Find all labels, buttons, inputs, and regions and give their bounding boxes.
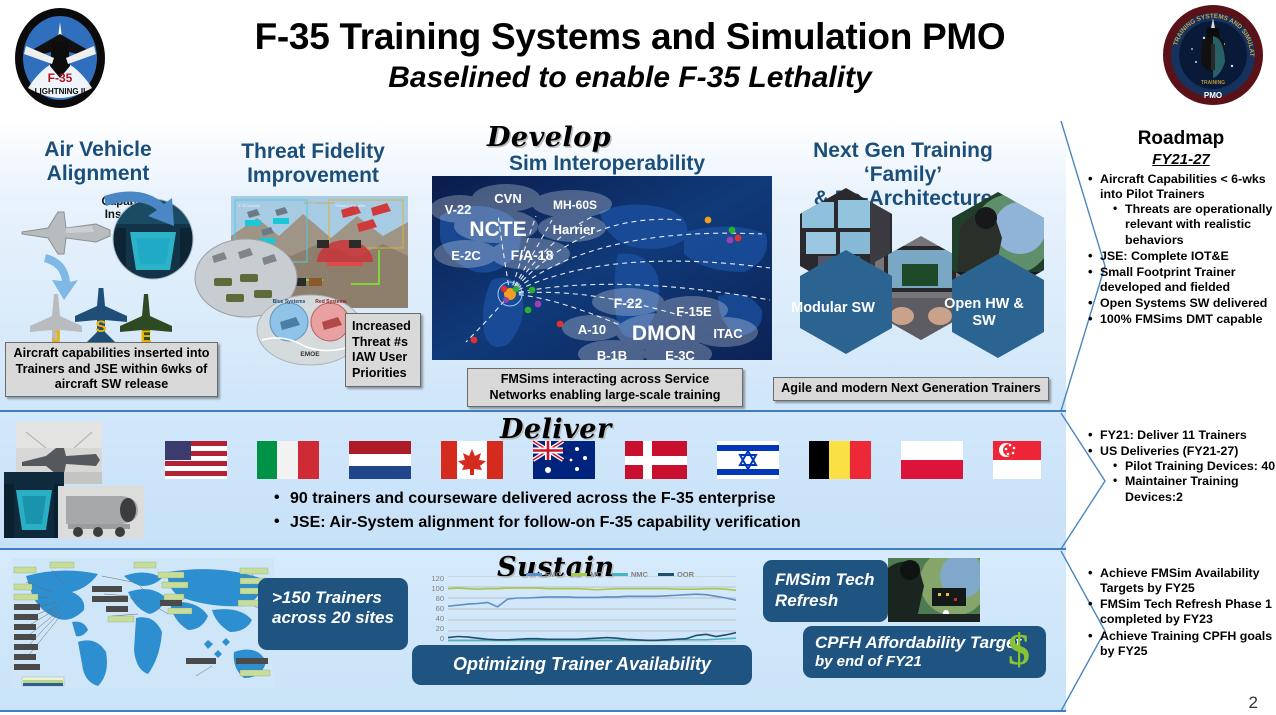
svg-text:LIGHTNING II: LIGHTNING II — [35, 87, 86, 96]
svg-text:E-2C: E-2C — [451, 248, 481, 263]
ytick: 0 — [420, 634, 444, 643]
sim-interoperability-network-map: V-22 CVN MH-60S NCTE Harrier E-2C F/A-18… — [432, 176, 772, 360]
flag-united-states — [165, 441, 227, 479]
svg-text:F-35 Ownship: F-35 Ownship — [239, 204, 260, 208]
col-title-sim-interoperability: Sim Interoperability — [492, 152, 722, 176]
availability-line-chart: FMC MC NMC OOR 120 100 80 60 40 20 0 — [420, 570, 738, 642]
bullet-text: 90 trainers and courseware delivered acr… — [290, 490, 776, 507]
col-title-line2: Alignment — [8, 162, 188, 186]
chart-y-axis: 120 100 80 60 40 20 0 — [420, 578, 444, 638]
list-item-text: FMSim Tech Refresh Phase 1 completed by … — [1100, 597, 1272, 626]
chart-series-mc — [448, 588, 736, 590]
callout-150-trainers: >150 Trainers across 20 sites — [258, 578, 408, 650]
roadmap-sublist: Threats are operationally relevant with … — [1112, 202, 1276, 247]
svg-text:V-22: V-22 — [445, 202, 472, 217]
svg-text:E-3C: E-3C — [665, 348, 695, 360]
list-item-text: JSE: Complete IOT&E — [1100, 249, 1229, 263]
roadmap-list-develop: Aircraft Capabilities < 6-wks into Pilot… — [1086, 172, 1276, 327]
roadmap-rail-deliver: FY21: Deliver 11 Trainers US Deliveries … — [1086, 424, 1276, 506]
svg-text:F-15E: F-15E — [676, 304, 712, 319]
col-title-line1: Air Vehicle — [8, 138, 188, 162]
col-title-line2: Improvement — [218, 164, 408, 188]
roadmap-heading: Roadmap — [1086, 128, 1276, 150]
next-gen-hexagon-cluster — [784, 188, 1062, 363]
slide-root: F-35 LIGHTNING II F-35 Training Systems … — [0, 0, 1276, 715]
page-number: 2 — [1249, 693, 1258, 713]
flag-netherlands — [349, 441, 411, 479]
svg-text:A-10: A-10 — [578, 322, 606, 337]
list-item: FMSim Tech Refresh Phase 1 completed by … — [1086, 597, 1276, 627]
page-subtitle: Baselined to enable F-35 Lethality — [160, 61, 1100, 96]
flag-israel — [717, 441, 779, 479]
svg-text:ITAC: ITAC — [713, 326, 743, 341]
list-item: US Deliveries (FY21-27) Pilot Training D… — [1086, 444, 1276, 505]
list-item: Small Footprint Trainer developed and fi… — [1086, 265, 1276, 295]
col-title-line1: Threat Fidelity — [218, 140, 408, 164]
svg-text:Red Systems: Red Systems — [315, 299, 347, 305]
svg-text:NCTE Constructive: NCTE Constructive — [304, 201, 335, 205]
list-item-text: Achieve FMSim Availability Targets by FY… — [1100, 566, 1260, 595]
f35-fuselage-trainer-photo — [58, 486, 144, 538]
chart-plot-area — [448, 576, 736, 642]
col-threat-fidelity: Threat Fidelity Improvement — [218, 140, 408, 188]
svg-text:B-1B: B-1B — [597, 348, 627, 360]
list-item-text: Aircraft Capabilities < 6-wks into Pilot… — [1100, 172, 1266, 201]
ytick: 80 — [420, 594, 444, 603]
ytick: 100 — [420, 584, 444, 593]
list-item: 100% FMSims DMT capable — [1086, 312, 1276, 327]
flag-australia — [533, 441, 595, 479]
roadmap-sublist: Pilot Training Devices: 40 Maintainer Tr… — [1112, 459, 1276, 504]
cpfh-line2: by end of FY21 — [815, 653, 1034, 671]
list-item-text: Achieve Training CPFH goals by FY25 — [1100, 629, 1272, 658]
list-item: Pilot Training Devices: 40 — [1112, 459, 1276, 474]
list-item-text: Maintainer Training Devices:2 — [1125, 474, 1239, 503]
svg-text:PMO: PMO — [1204, 91, 1222, 100]
page-title: F-35 Training Systems and Simulation PMO — [160, 18, 1100, 57]
list-item: Threats are operationally relevant with … — [1112, 202, 1276, 247]
list-item-text: FY21: Deliver 11 Trainers — [1100, 428, 1247, 442]
roadmap-rail-develop: Roadmap FY21-27 Aircraft Capabilities < … — [1086, 128, 1276, 328]
f35-lightning-ii-emblem-icon: F-35 LIGHTNING II — [8, 6, 113, 111]
roadmap-rail-sustain: Achieve FMSim Availability Targets by FY… — [1086, 562, 1276, 660]
bullet-text: JSE: Air-System alignment for follow-on … — [290, 514, 801, 531]
flag-canada — [441, 441, 503, 479]
list-item: Open Systems SW delivered — [1086, 296, 1276, 311]
list-item-text: US Deliveries (FY21-27) — [1100, 444, 1238, 458]
ytick: 40 — [420, 614, 444, 623]
hex-label-modular-sw: Modular SW — [786, 300, 880, 317]
svg-text:Harrier: Harrier — [553, 222, 596, 237]
cockpit-trainer-blue-photo — [4, 472, 64, 538]
col-title-line1: Next Gen Training ‘Family’ — [772, 139, 1034, 187]
svg-text:CVN: CVN — [494, 191, 521, 206]
svg-text:F/A-18: F/A-18 — [511, 247, 554, 263]
flag-italy — [257, 441, 319, 479]
capability-insertion-arrow-icon — [100, 186, 184, 230]
deliver-bullet-2: • JSE: Air-System alignment for follow-o… — [272, 511, 972, 535]
svg-text:F-35: F-35 — [48, 71, 73, 85]
title-block: F-35 Training Systems and Simulation PMO… — [160, 18, 1100, 95]
svg-text:F-22: F-22 — [614, 295, 643, 311]
callout-optimizing-availability: Optimizing Trainer Availability — [412, 645, 752, 685]
list-item: Maintainer Training Devices:2 — [1112, 474, 1276, 504]
callout-fmsim-tech-refresh: FMSim Tech Refresh — [763, 560, 888, 622]
flag-singapore — [993, 441, 1041, 479]
deliver-bullet-1: • 90 trainers and courseware delivered a… — [272, 487, 972, 511]
ytick: 120 — [420, 574, 444, 583]
deliver-bullets: • 90 trainers and courseware delivered a… — [272, 487, 972, 535]
col-air-vehicle-alignment: Air Vehicle Alignment — [8, 138, 188, 186]
cpfh-line1: CPFH Affordability Target — [815, 633, 1034, 653]
list-item: FY21: Deliver 11 Trainers — [1086, 428, 1276, 443]
roadmap-list-deliver: FY21: Deliver 11 Trainers US Deliveries … — [1086, 428, 1276, 505]
dollar-sign-icon: $ — [1008, 624, 1030, 675]
ytick: 60 — [420, 604, 444, 613]
list-item: JSE: Complete IOT&E — [1086, 249, 1276, 264]
svg-text:Blue Systems: Blue Systems — [273, 299, 306, 305]
list-item-text: Threats are operationally relevant with … — [1125, 202, 1272, 246]
list-item-text: Pilot Training Devices: 40 — [1125, 459, 1275, 473]
section-heading-develop: Develop — [487, 122, 611, 153]
svg-text:MH-60S: MH-60S — [553, 198, 597, 212]
list-item-text: Small Footprint Trainer developed and fi… — [1100, 265, 1236, 294]
world-map-training-sites — [12, 558, 274, 688]
callout-fmsims-interacting: FMSims interacting across Service Networ… — [467, 368, 743, 407]
svg-text:DMON: DMON — [632, 322, 696, 345]
flag-poland — [901, 441, 963, 479]
list-item: Achieve FMSim Availability Targets by FY… — [1086, 566, 1276, 596]
hex-label-open-hw-sw: Open HW & SW — [938, 296, 1030, 329]
list-item: Aircraft Capabilities < 6-wks into Pilot… — [1086, 172, 1276, 248]
svg-text:EMOE: EMOE — [300, 351, 320, 358]
flag-belgium — [809, 441, 871, 479]
flag-denmark — [625, 441, 687, 479]
svg-text:Threats & Friendlies: Threats & Friendlies — [335, 204, 366, 208]
svg-text:TRAINING: TRAINING — [1201, 80, 1225, 86]
training-systems-and-simulation-pmo-seal-icon: PMO TRAINING TRAINING SYSTEMS AND SIMULA… — [1162, 4, 1264, 106]
list-item-text: Open Systems SW delivered — [1100, 296, 1267, 310]
list-item-text: 100% FMSims DMT capable — [1100, 312, 1263, 326]
list-item: Achieve Training CPFH goals by FY25 — [1086, 629, 1276, 659]
roadmap-subheading: FY21-27 — [1086, 151, 1276, 168]
roadmap-list-sustain: Achieve FMSim Availability Targets by FY… — [1086, 566, 1276, 659]
partner-flags-row — [165, 437, 1041, 483]
ytick: 20 — [420, 624, 444, 633]
svg-text:NCTE: NCTE — [469, 218, 526, 241]
callout-increased-threats: Increased Threat #s IAW User Priorities — [345, 313, 421, 387]
slide-header: F-35 LIGHTNING II F-35 Training Systems … — [0, 0, 1276, 118]
band-separator-3 — [0, 710, 1066, 712]
callout-aircraft-capabilities: Aircraft capabilities inserted into Trai… — [5, 342, 218, 397]
chart-series-fmc — [448, 594, 736, 607]
pilot-in-simulator-cockpit-photo — [888, 558, 980, 622]
callout-agile-modern-trainers: Agile and modern Next Generation Trainer… — [773, 377, 1049, 401]
svg-text:S: S — [95, 317, 106, 336]
